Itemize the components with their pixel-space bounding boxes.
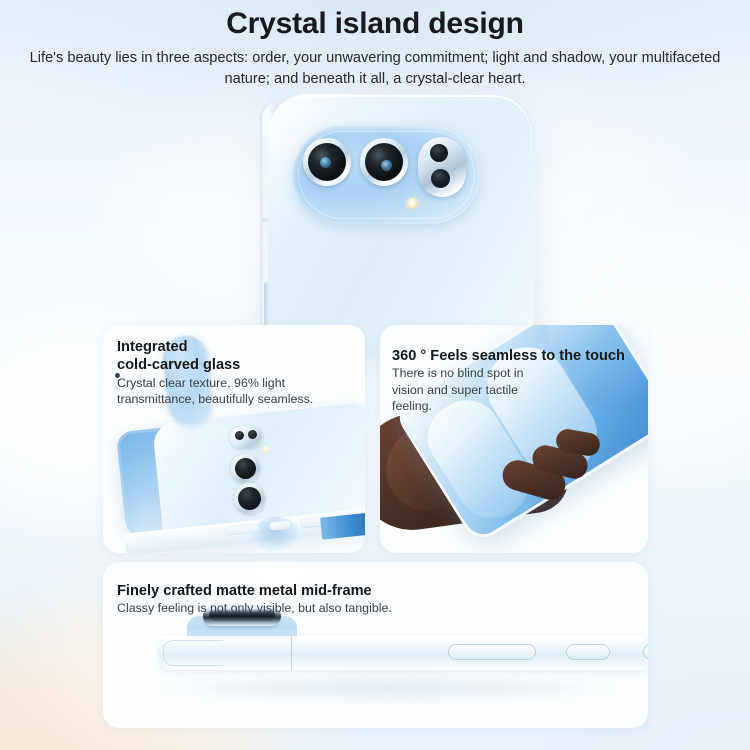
- lens-glass: [235, 458, 256, 479]
- camera-flash-led: [407, 198, 418, 209]
- artwork-sublens: [235, 431, 244, 440]
- camera-sublens-top: [430, 144, 448, 162]
- card-heading-line-2: cold-carved glass: [117, 356, 355, 374]
- artwork-volume-button: [448, 644, 536, 660]
- hero-phone-image: [0, 86, 750, 336]
- artwork-drop-shadow: [153, 674, 623, 702]
- camera-sublens-bottom: [431, 169, 450, 188]
- artwork-sublens: [248, 430, 257, 439]
- card-subtext: Crystal clear texture, 96% light transmi…: [117, 375, 355, 407]
- card-subtext: Classy feeling is not only visible, but …: [117, 600, 617, 616]
- card-heading-line-1: Integrated: [117, 338, 355, 356]
- artwork-camera-lens: [231, 454, 260, 483]
- artwork-camera-lens: [234, 483, 265, 514]
- artwork-flash-led: [263, 446, 270, 453]
- feature-card-cold-carved-glass[interactable]: Integrated cold-carved glass Crystal cle…: [103, 325, 365, 553]
- header: Crystal island design Life's beauty lies…: [0, 0, 750, 91]
- card-text-block: Integrated cold-carved glass Crystal cle…: [117, 338, 355, 407]
- card-heading: 360 ° Feels seamless to the touch: [392, 347, 648, 365]
- page-subtitle: Life's beauty lies in three aspects: ord…: [10, 42, 740, 91]
- lens-glass: [238, 487, 261, 510]
- page-root: Crystal island design Life's beauty lies…: [0, 0, 750, 750]
- artwork-frame-inner-edge: [163, 640, 223, 666]
- lens-glass: [308, 143, 346, 181]
- artwork-frame-highlight: [159, 636, 645, 639]
- lens-reflection: [381, 160, 392, 171]
- artwork-power-button: [566, 644, 610, 660]
- artwork-frame-seam: [291, 636, 292, 670]
- card-text-block: Finely crafted matte metal mid-frame Cla…: [117, 582, 617, 617]
- lens-reflection: [320, 157, 331, 168]
- card-text-block: 360 ° Feels seamless to the touch There …: [392, 347, 648, 414]
- page-title: Crystal island design: [0, 0, 750, 42]
- feature-card-seamless-touch[interactable]: 360 ° Feels seamless to the touch There …: [380, 325, 648, 553]
- lens-glass: [365, 143, 403, 181]
- card-subtext: There is no blind spot in vision and sup…: [392, 365, 542, 413]
- feature-card-matte-metal-midframe[interactable]: Finely crafted matte metal mid-frame Cla…: [103, 562, 648, 728]
- card-heading: Finely crafted matte metal mid-frame: [117, 582, 617, 600]
- camera-lens-primary: [303, 138, 351, 186]
- camera-lens-secondary: [360, 138, 408, 186]
- artwork-blue-accent-strip: [320, 512, 365, 539]
